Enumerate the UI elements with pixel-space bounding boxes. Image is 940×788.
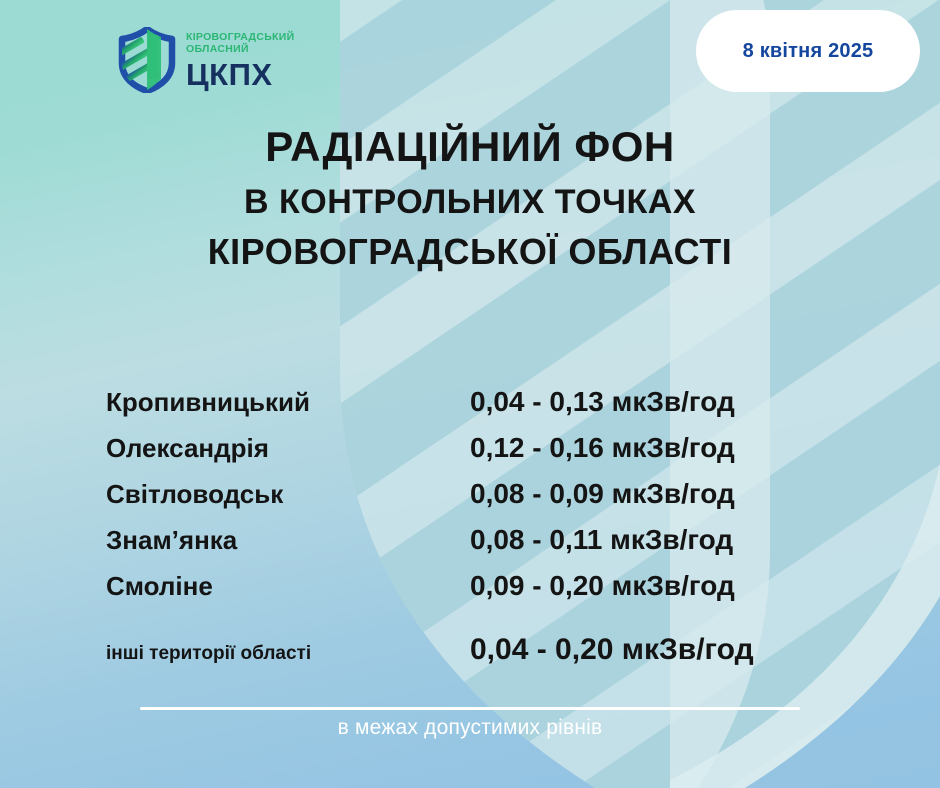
title-line-3: КІРОВОГРАДСЬКОЇ ОБЛАСТІ xyxy=(0,234,940,270)
row-place-label: Кропивницький xyxy=(106,387,470,418)
row-value-label: 0,08 - 0,11 мкЗв/год xyxy=(470,524,866,556)
title-line-2: В КОНТРОЛЬНИХ ТОЧКАХ xyxy=(0,185,940,219)
row-place-label: Світловодськ xyxy=(106,479,470,510)
brand-logo: КІРОВОГРАДСЬКИЙ ОБЛАСНИЙ ЦКПХ xyxy=(118,27,294,93)
table-row-other-territories: інші території області 0,04 - 0,20 мкЗв/… xyxy=(106,633,866,679)
measurement-table: Кропивницький 0,04 - 0,13 мкЗв/год Олекс… xyxy=(106,386,866,679)
date-badge-label: 8 квітня 2025 xyxy=(743,40,874,63)
shield-icon xyxy=(118,27,176,93)
row-place-label: Знам’янка xyxy=(106,525,470,556)
row-value-label: 0,09 - 0,20 мкЗв/год xyxy=(470,570,866,602)
table-row: Кропивницький 0,04 - 0,13 мкЗв/год xyxy=(106,386,866,432)
footer-divider xyxy=(140,707,800,710)
logo-abbreviation: ЦКПХ xyxy=(186,59,294,92)
title-line-1: РАДІАЦІЙНИЙ ФОН xyxy=(0,126,940,168)
logo-line-2: ОБЛАСНИЙ xyxy=(186,43,294,55)
logo-wordmark: КІРОВОГРАДСЬКИЙ ОБЛАСНИЙ ЦКПХ xyxy=(186,29,294,91)
page-title: РАДІАЦІЙНИЙ ФОН В КОНТРОЛЬНИХ ТОЧКАХ КІР… xyxy=(0,126,940,270)
row-value-label: 0,08 - 0,09 мкЗв/год xyxy=(470,478,866,510)
poster-canvas: КІРОВОГРАДСЬКИЙ ОБЛАСНИЙ ЦКПХ 8 квітня 2… xyxy=(0,0,940,788)
row-place-label: Олександрія xyxy=(106,433,470,464)
table-row: Олександрія 0,12 - 0,16 мкЗв/год xyxy=(106,432,866,478)
date-badge: 8 квітня 2025 xyxy=(696,10,920,92)
table-row: Смоліне 0,09 - 0,20 мкЗв/год xyxy=(106,570,866,616)
logo-line-1: КІРОВОГРАДСЬКИЙ xyxy=(186,31,294,43)
footer-note: в межах допустимих рівнів xyxy=(0,716,940,740)
table-row: Світловодськ 0,08 - 0,09 мкЗв/год xyxy=(106,478,866,524)
row-place-label: інші території області xyxy=(106,643,470,665)
table-row: Знам’янка 0,08 - 0,11 мкЗв/год xyxy=(106,524,866,570)
row-value-label: 0,04 - 0,13 мкЗв/год xyxy=(470,386,866,418)
row-value-label: 0,12 - 0,16 мкЗв/год xyxy=(470,432,866,464)
row-value-label: 0,04 - 0,20 мкЗв/год xyxy=(470,633,866,667)
row-place-label: Смоліне xyxy=(106,571,470,602)
